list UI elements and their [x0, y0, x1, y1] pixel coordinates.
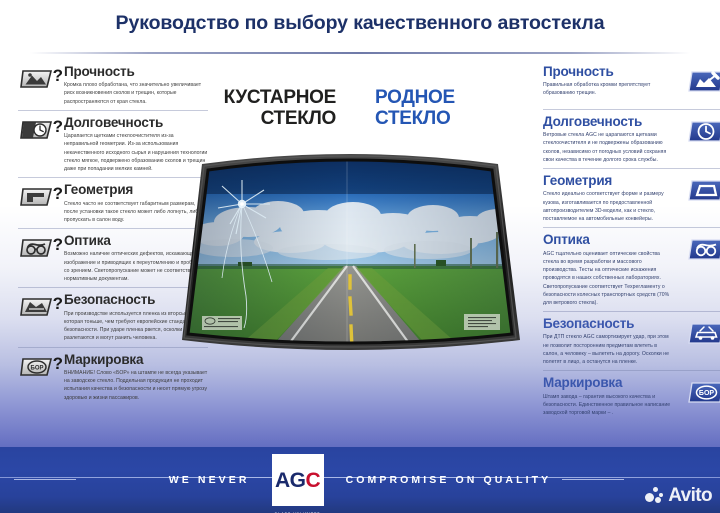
label-kustarnoe-steklo: КУСТАРНОЕ СТЕКЛО	[196, 88, 336, 129]
infographic-poster: Руководство по выбору качественного авто…	[0, 0, 720, 513]
question-mark: ?	[53, 295, 63, 312]
agc-footer-banner: WE NEVER AGC GLASS UNLIMITED COMPROMISE …	[0, 447, 720, 513]
item-description: Штамп завода – гарантия высокого качеств…	[543, 393, 671, 418]
item-heading: Долговечность	[543, 115, 671, 129]
windshield-geometry-icon	[687, 178, 720, 201]
svg-text:БОР: БОР	[699, 391, 714, 398]
agc-letter-c: C	[305, 469, 320, 492]
item-heading: Прочность	[64, 65, 208, 79]
bor-stamp-icon: БОР	[687, 380, 720, 403]
agc-logo: AGC GLASS UNLIMITED	[272, 454, 324, 506]
geometry-question-icon: ?	[20, 186, 54, 209]
list-item: ? Прочность Кромка плохо обработана, что…	[18, 60, 208, 110]
item-heading: Безопасность	[543, 317, 671, 331]
list-item: Геометрия Стекло идеально соответствует …	[543, 168, 720, 227]
safety-question-icon: ?	[20, 296, 54, 319]
glass-edge-question-icon: ?	[20, 68, 54, 91]
item-heading: Долговечность	[64, 116, 208, 130]
list-item: Безопасность При ДТП стекло AGC самортиз…	[543, 311, 720, 370]
marking-label-left	[202, 316, 242, 330]
hammer-strength-icon	[687, 69, 720, 92]
list-item: БОР Маркировка Штамп завода – гарантия в…	[543, 370, 720, 421]
clock-question-icon: ?	[20, 119, 54, 142]
marking-bor-question-icon: БОР ?	[20, 356, 54, 379]
item-description: Правильная обработка кромки препятствует…	[543, 81, 671, 98]
svg-text:БОР: БОР	[31, 365, 44, 371]
optics-glasses-question-icon: ?	[20, 237, 54, 260]
banner-text-right: COMPROMISE ON QUALITY	[346, 474, 552, 486]
poster-title-area: Руководство по выбору качественного авто…	[0, 12, 720, 35]
item-description: AGC тщательно оценивает оптические свойс…	[543, 250, 671, 308]
question-mark: ?	[53, 185, 63, 202]
avito-logo-icon	[645, 487, 665, 505]
optics-glasses-icon	[687, 237, 720, 260]
avito-wordmark: Avito	[668, 486, 712, 505]
item-heading: Прочность	[543, 65, 671, 79]
item-heading: Геометрия	[543, 174, 671, 188]
marking-label-right	[464, 314, 500, 330]
page-title: Руководство по выбору качественного авто…	[0, 12, 720, 35]
item-description: Ветровые стекла AGC не царапаются щеткам…	[543, 131, 671, 164]
question-mark: ?	[53, 118, 63, 135]
item-description: Стекло идеально соответствует форме и ра…	[543, 190, 671, 223]
agc-logo-letters: AGC	[275, 470, 320, 491]
question-mark: ?	[53, 355, 63, 372]
list-item: Оптика AGC тщательно оценивает оптически…	[543, 227, 720, 311]
label-rodnoe-steklo: РОДНОЕ СТЕКЛО	[375, 88, 505, 129]
item-heading: Маркировка	[543, 376, 671, 390]
title-divider	[30, 52, 690, 54]
clock-durability-icon	[687, 119, 720, 142]
question-mark: ?	[53, 236, 63, 253]
question-mark: ?	[53, 67, 63, 84]
agc-letters-ag: AG	[275, 469, 306, 492]
car-safety-icon	[687, 321, 720, 344]
list-item: Прочность Правильная обработка кромки пр…	[543, 60, 720, 109]
item-heading: Оптика	[543, 233, 671, 247]
item-description: Кромка плохо обработана, что значительно…	[64, 81, 208, 106]
item-description: ВНИМАНИЕ! Слово «БОР» на штампе не всегд…	[64, 369, 208, 402]
item-description: При ДТП стекло AGC самортизирует удар, п…	[543, 333, 671, 366]
windshield-illustration	[178, 148, 522, 364]
right-comparison-column: Прочность Правильная обработка кромки пр…	[543, 60, 720, 421]
list-item: Долговечность Ветровые стекла AGC не цар…	[543, 109, 720, 168]
avito-watermark: Avito	[645, 486, 712, 505]
banner-text-left: WE NEVER	[169, 474, 250, 486]
